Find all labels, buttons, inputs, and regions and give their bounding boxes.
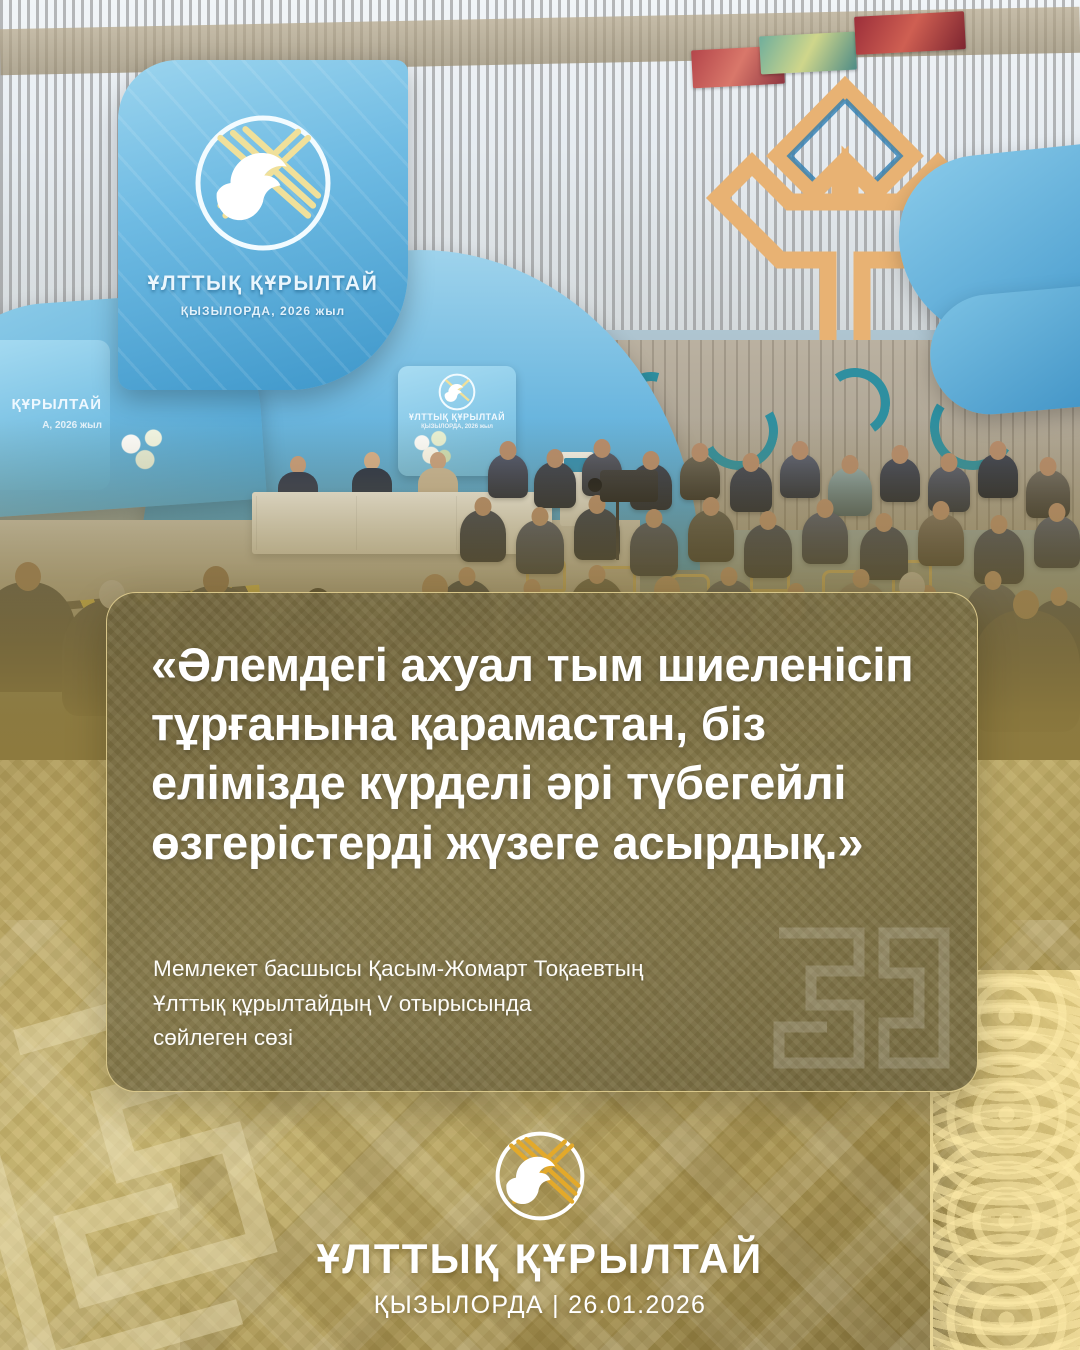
wall-art-panel xyxy=(854,11,966,55)
footer-title: ҰЛТТЫҚ ҚҰРЫЛТАЙ xyxy=(317,1238,764,1280)
attribution-line-3: сөйлеген сөзі xyxy=(153,1021,757,1055)
wall-art-panel xyxy=(759,32,857,75)
attribution-line-1: Мемлекет басшысы Қасым-Жомарт Тоқаевтың xyxy=(153,952,757,986)
eagle-emblem-icon xyxy=(188,108,338,258)
quote-card: «Әлемдегі ахуал тым шиеленісіп тұрғанына… xyxy=(106,592,978,1092)
quote-attribution: Мемлекет басшысы Қасым-Жомарт Тоқаевтың … xyxy=(153,952,757,1055)
stage-banner-small-title: ҰЛТТЫҚ ҚҰРЫЛТАЙ xyxy=(398,412,516,422)
ulttyq-quryltai-emblem-icon xyxy=(492,1128,588,1224)
stage-banner-left-title: ҚҰРЫЛТАЙ xyxy=(0,396,102,413)
footer-subtitle: ҚЫЗЫЛОРДА | 26.01.2026 xyxy=(374,1291,707,1320)
stage-banner-left-subtitle: А, 2026 жыл xyxy=(0,420,102,431)
eagle-emblem-icon xyxy=(437,372,477,412)
quote-text: «Әлемдегі ахуал тым шиеленісіп тұрғанына… xyxy=(151,635,947,872)
stage-banner: ҰЛТТЫҚ ҚҰРЫЛТАЙ ҚЫЗЫЛОРДА, 2026 жыл xyxy=(118,60,408,390)
video-camera xyxy=(600,470,658,502)
attribution-line-2: Ұлттық құрылтайдың V отырысында xyxy=(153,987,757,1021)
flower-arrangement xyxy=(110,420,180,480)
stage-banner-subtitle: ҚЫЗЫЛОРДА, 2026 жыл xyxy=(118,304,408,318)
stage-banner-title: ҰЛТТЫҚ ҚҰРЫЛТАЙ xyxy=(118,272,408,296)
poster-canvas: ҚҰРЫЛТАЙ А, 2026 жыл ҰЛТТЫҚ ҚҰРЫЛТАЙ ҚЫЗ… xyxy=(0,0,1080,1350)
koshkar-muyiz-ornament-icon xyxy=(749,913,959,1088)
camera-tripod xyxy=(616,502,619,560)
stage-banner-left-partial: ҚҰРЫЛТАЙ А, 2026 жыл xyxy=(0,340,110,490)
poster-footer: ҰЛТТЫҚ ҚҰРЫЛТАЙ ҚЫЗЫЛОРДА | 26.01.2026 xyxy=(0,1128,1080,1320)
